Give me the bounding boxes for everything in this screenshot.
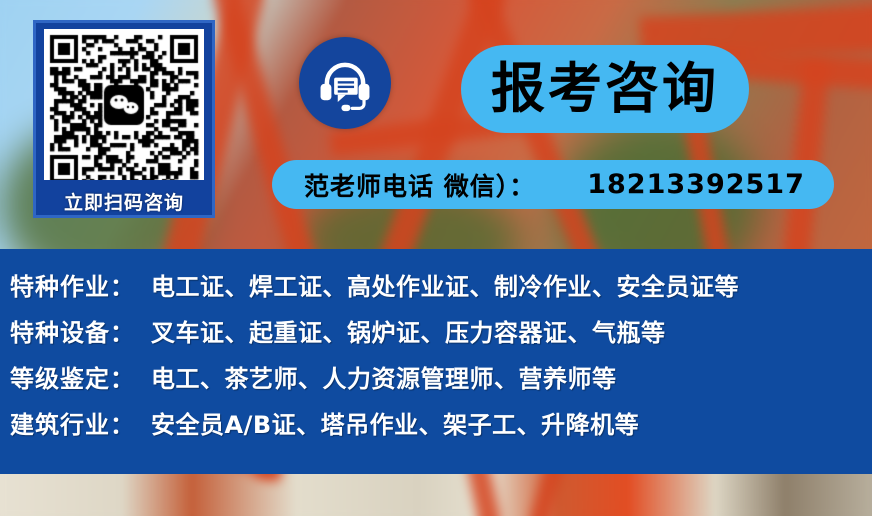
qr-code-caption: 立即扫码咨询 bbox=[64, 188, 184, 215]
category-label: 等级鉴定： bbox=[10, 359, 135, 394]
contact-phone-pill[interactable]: 范老师电话 微信）： 18213392517 bbox=[272, 160, 834, 209]
consultation-title-text: 报考咨询 bbox=[491, 62, 719, 116]
category-items: 电工证、焊工证、高处作业证、制冷作业、安全员证等 bbox=[151, 267, 739, 302]
category-row: 等级鉴定： 电工、茶艺师、人力资源管理师、营养师等 bbox=[0, 359, 872, 405]
category-row: 特种设备： 叉车证、起重证、锅炉证、压力容器证、气瓶等 bbox=[0, 313, 872, 359]
category-items: 电工、茶艺师、人力资源管理师、营养师等 bbox=[151, 359, 617, 394]
category-items: 叉车证、起重证、锅炉证、压力容器证、气瓶等 bbox=[151, 313, 666, 348]
headset-support-badge[interactable] bbox=[299, 37, 391, 129]
contact-phone-number[interactable]: 18213392517 bbox=[587, 169, 805, 200]
qr-code-card[interactable]: 立即扫码咨询 bbox=[33, 20, 215, 218]
promo-poster: 立即扫码咨询 报考咨询 范老师电话 微信）： 18213392517 特种作业：… bbox=[0, 0, 872, 516]
headset-support-icon bbox=[316, 54, 374, 112]
contact-label: 范老师电话 微信）： bbox=[304, 167, 535, 203]
category-items: 安全员A/B证、塔吊作业、架子工、升降机等 bbox=[151, 405, 639, 440]
category-row: 建筑行业： 安全员A/B证、塔吊作业、架子工、升降机等 bbox=[0, 405, 872, 451]
qr-code-image[interactable] bbox=[44, 29, 204, 180]
category-row: 特种作业： 电工证、焊工证、高处作业证、制冷作业、安全员证等 bbox=[0, 267, 872, 313]
category-label: 特种作业： bbox=[10, 267, 135, 302]
category-label: 建筑行业： bbox=[10, 405, 135, 440]
certificate-categories-block: 特种作业： 电工证、焊工证、高处作业证、制冷作业、安全员证等 特种设备： 叉车证… bbox=[0, 249, 872, 474]
consultation-title-pill[interactable]: 报考咨询 bbox=[461, 45, 749, 133]
qr-code-canvas[interactable] bbox=[44, 29, 204, 180]
category-label: 特种设备： bbox=[10, 313, 135, 348]
